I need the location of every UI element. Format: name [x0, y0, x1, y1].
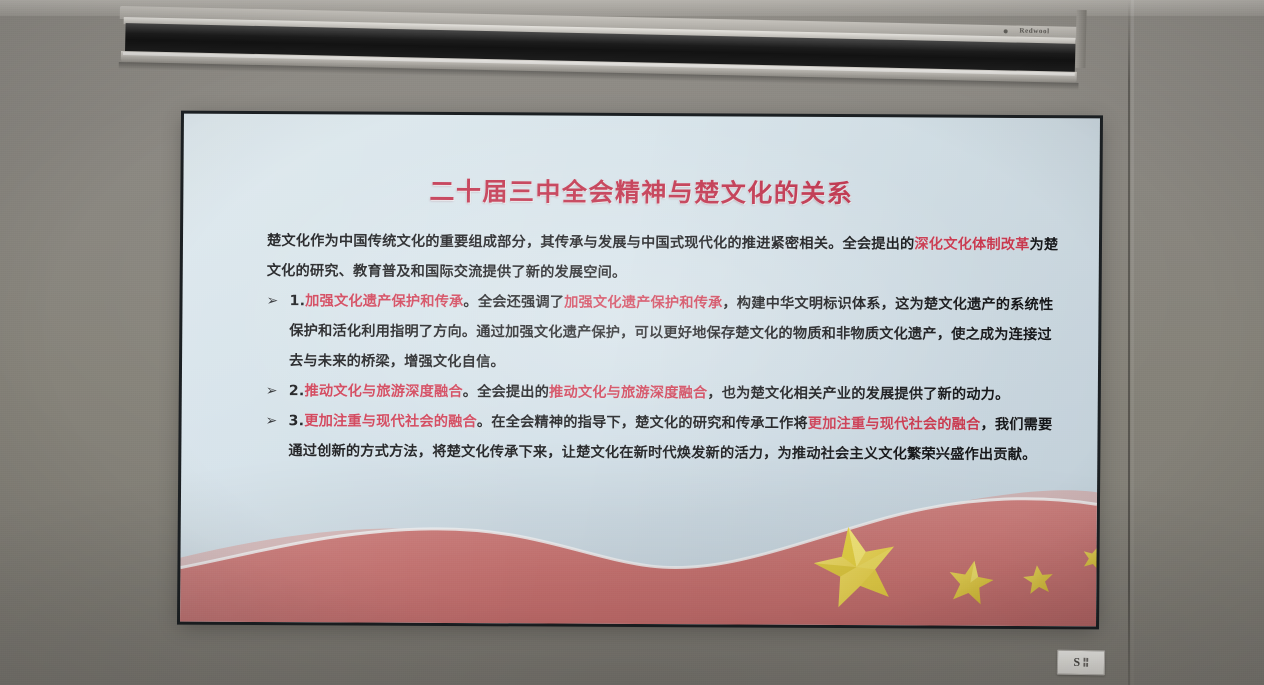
slide-body-text: 楚文化作为中国传统文化的重要组成部分，其传承与发展与中国式现代化的推进紧密相关。…	[265, 226, 1063, 470]
bullet-arrow-icon: ➢	[265, 406, 277, 436]
body-text-run: 。全会还强调了	[463, 294, 564, 311]
bullet-number: 3.	[289, 413, 305, 429]
slide-intro-paragraph: 楚文化作为中国传统文化的重要组成部分，其传承与发展与中国式现代化的推进紧密相关。…	[267, 226, 1063, 290]
wall-label-small-text: ▮▮▮▮	[1083, 658, 1089, 668]
slide-canvas: 二十届三中全会精神与楚文化的关系 楚文化作为中国传统文化的重要组成部分，其传承与…	[180, 114, 1100, 627]
housing-brand-label: Redwool	[1019, 27, 1049, 36]
highlighted-phrase: 加强文化遗产保护和传承	[564, 295, 722, 312]
projected-slide[interactable]: 二十届三中全会精神与楚文化的关系 楚文化作为中国传统文化的重要组成部分，其传承与…	[180, 114, 1100, 627]
room-wall: Redwool	[0, 0, 1264, 685]
highlighted-phrase: 深化文化体制改革	[914, 236, 1029, 253]
slide-bullet-1: ➢ 1.加强文化遗产保护和传承。全会还强调了加强文化遗产保护和传承，构建中华文明…	[266, 286, 1063, 380]
projector-screen-housing[interactable]: Redwool	[119, 6, 1080, 93]
highlighted-phrase: 推动文化与旅游深度融合	[549, 385, 707, 402]
wall-label-logo-icon: S	[1073, 655, 1080, 670]
slide-title: 二十届三中全会精神与楚文化的关系	[183, 171, 1099, 212]
body-text-run: 。在全会精神的指导下，楚文化的研究和传承工作将	[477, 414, 808, 432]
highlighted-phrase: 加强文化遗产保护和传承	[305, 293, 463, 310]
body-text-run: ，也为楚文化相关产业的发展提供了新的动力。	[707, 385, 1009, 403]
housing-end-cap	[1075, 10, 1086, 68]
wall-label-sticker: S ▮▮▮▮	[1057, 650, 1105, 676]
slide-bullet-2: ➢ 2.推动文化与旅游深度融合。全会提出的推动文化与旅游深度融合，也为楚文化相关…	[266, 376, 1062, 410]
body-text-run: 楚文化作为中国传统文化的重要组成部分，其传承与发展与中国式现代化的推进紧密相关。…	[267, 233, 915, 252]
body-text-run: 。全会提出的	[463, 384, 549, 400]
wall-seam-line	[1128, 0, 1130, 685]
bullet-arrow-icon: ➢	[266, 286, 278, 316]
slide-decoration-wave-stars	[180, 472, 1097, 627]
bullet-arrow-icon: ➢	[266, 376, 278, 406]
highlighted-phrase: 更加注重与现代社会的融合	[304, 413, 477, 430]
bullet-number: 1.	[289, 293, 305, 309]
bullet-number: 2.	[289, 383, 305, 399]
highlighted-phrase: 推动文化与旅游深度融合	[304, 383, 462, 400]
slide-bullet-3: ➢ 3.更加注重与现代社会的融合。在全会精神的指导下，楚文化的研究和传承工作将更…	[265, 406, 1061, 470]
wall-label-tiny-line: ▮▮	[1083, 663, 1089, 668]
wall-seam-highlight	[1131, 0, 1134, 685]
highlighted-phrase: 更加注重与现代社会的融合	[808, 416, 981, 433]
housing-brand-dot-icon	[1004, 29, 1008, 33]
